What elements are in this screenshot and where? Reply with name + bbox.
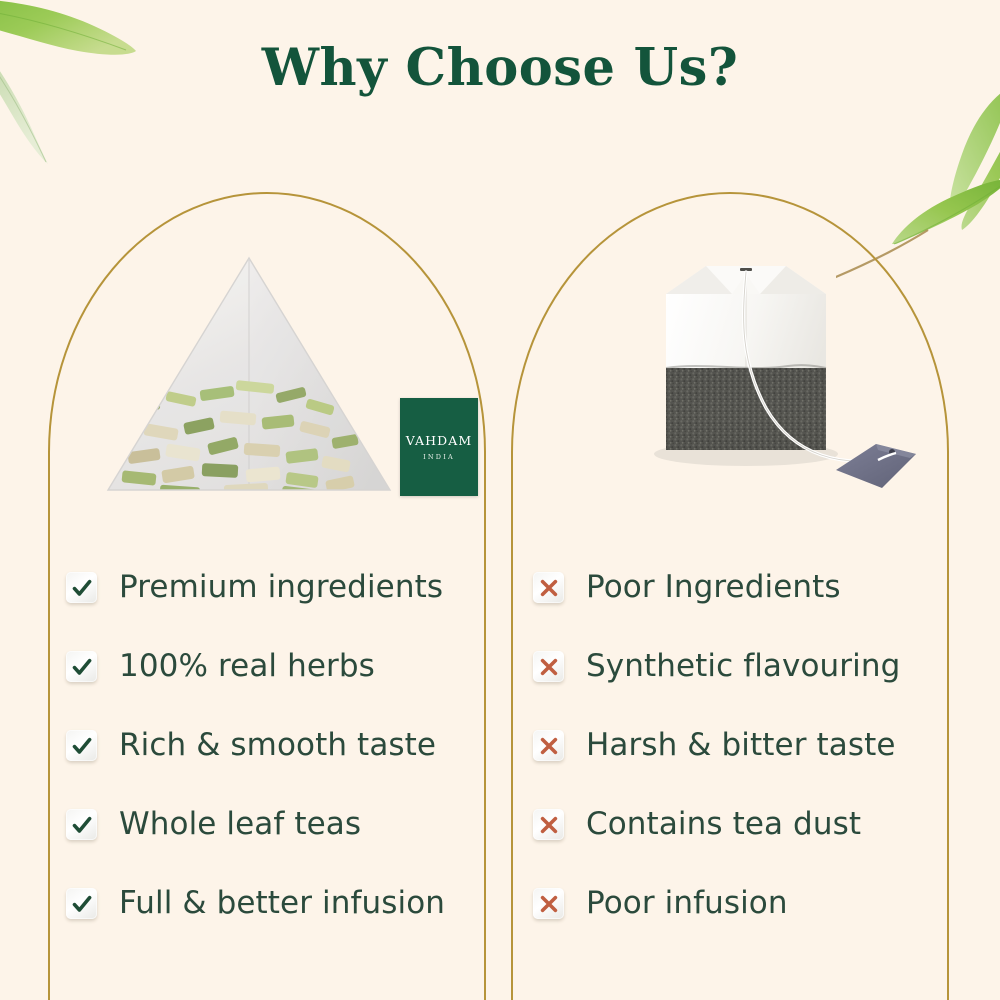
- list-item: Poor Ingredients: [533, 548, 941, 627]
- product-image-square-teabag: [515, 196, 945, 526]
- cross-icon: [533, 888, 564, 919]
- feature-list-vahdam: Premium ingredients 100% real herbs Rich…: [66, 548, 474, 943]
- list-item-label: Contains tea dust: [586, 809, 861, 840]
- cross-icon: [533, 572, 564, 603]
- check-icon: [66, 572, 97, 603]
- check-icon: [66, 730, 97, 761]
- brand-subtitle: INDIA: [423, 453, 455, 461]
- product-image-pyramid-teabag: VAHDAM INDIA: [52, 196, 482, 526]
- feature-list-others: Poor Ingredients Synthetic flavouring Ha…: [533, 548, 941, 943]
- list-item: Rich & smooth taste: [66, 706, 474, 785]
- check-icon: [66, 888, 97, 919]
- list-item: Harsh & bitter taste: [533, 706, 941, 785]
- brand-name: VAHDAM: [406, 433, 473, 448]
- list-item-label: Whole leaf teas: [119, 809, 361, 840]
- check-icon: [66, 651, 97, 682]
- pyramid-teabag-graphic: VAHDAM INDIA: [104, 254, 394, 494]
- list-item-label: Rich & smooth taste: [119, 730, 436, 761]
- list-item: Synthetic flavouring: [533, 627, 941, 706]
- cross-icon: [533, 651, 564, 682]
- list-item-label: Full & better infusion: [119, 888, 445, 919]
- list-item-label: 100% real herbs: [119, 651, 375, 682]
- list-item-label: Poor infusion: [586, 888, 788, 919]
- why-choose-us-panel: Why Choose Us?: [0, 0, 1000, 1000]
- list-item-label: Poor Ingredients: [586, 572, 841, 603]
- cross-icon: [533, 809, 564, 840]
- list-item: Whole leaf teas: [66, 785, 474, 864]
- list-item: Full & better infusion: [66, 864, 474, 943]
- vahdam-brand-tag: VAHDAM INDIA: [400, 398, 478, 496]
- square-teabag-graphic: [620, 258, 920, 508]
- list-item: Poor infusion: [533, 864, 941, 943]
- list-item: Contains tea dust: [533, 785, 941, 864]
- page-title: Why Choose Us?: [0, 38, 1000, 98]
- list-item-label: Premium ingredients: [119, 572, 443, 603]
- list-item-label: Synthetic flavouring: [586, 651, 900, 682]
- check-icon: [66, 809, 97, 840]
- list-item: Premium ingredients: [66, 548, 474, 627]
- list-item-label: Harsh & bitter taste: [586, 730, 896, 761]
- list-item: 100% real herbs: [66, 627, 474, 706]
- cross-icon: [533, 730, 564, 761]
